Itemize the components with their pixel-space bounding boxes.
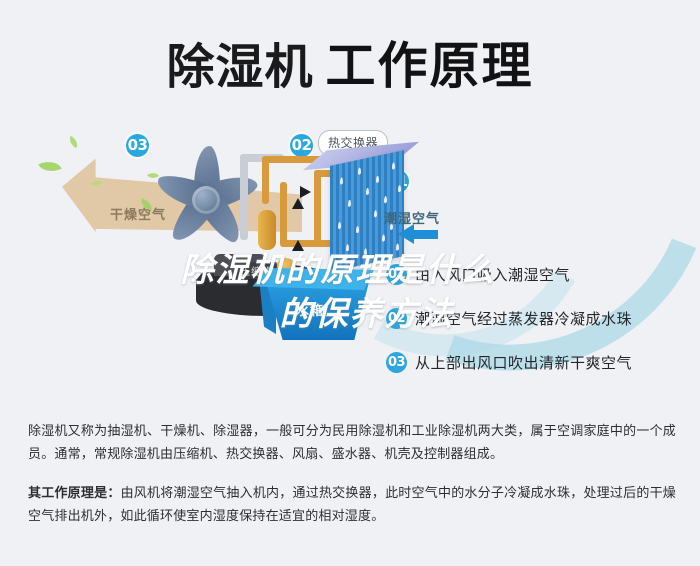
- step-number-badge: 01: [386, 264, 407, 285]
- step-list: 01 由入风口吸入潮湿空气 02 潮湿空气经过蒸发器冷凝成水珠 03 从上部出风…: [386, 252, 686, 384]
- leaf-icon: [67, 136, 81, 148]
- condensation-droplet: [340, 177, 343, 185]
- suction-pipe: [240, 154, 248, 240]
- fan-hub: [192, 186, 220, 214]
- step-number-badge: 02: [386, 308, 407, 329]
- copper-pipe: [280, 182, 287, 246]
- condensation-droplet: [364, 248, 367, 256]
- list-item: 01 由入风口吸入潮湿空气: [386, 252, 686, 296]
- water-tank-label: 水箱: [296, 300, 324, 319]
- flow-arrow-right-icon: [300, 186, 311, 198]
- condensation-droplet: [376, 175, 379, 183]
- page-title: 除湿机工作原理: [0, 26, 700, 98]
- condensation-droplet: [392, 162, 395, 170]
- title-part-two: 工作原理: [326, 37, 534, 95]
- condensation-droplet: [366, 188, 369, 196]
- paragraph-two-rest: 由风机将潮湿空气抽入机内，通过热交换器，此时空气中的水分子冷凝成水珠，处理过后的…: [28, 486, 676, 524]
- flow-arrow-up-icon: [292, 240, 304, 251]
- condensation-droplet: [348, 199, 351, 207]
- copper-pipe: [262, 156, 269, 204]
- condensation-droplet: [374, 210, 377, 218]
- condensation-droplet: [356, 226, 359, 234]
- list-item: 03 从上部出风口吹出清新干爽空气: [386, 340, 686, 384]
- infographic-page: 除湿机工作原理 干燥空气 03 02 01 热交换器: [0, 0, 700, 566]
- list-item: 02 潮湿空气经过蒸发器冷凝成水珠: [386, 296, 686, 340]
- condensation-droplet: [358, 167, 361, 175]
- paragraph-two-lead: 其工作原理是：: [28, 486, 121, 501]
- step-description: 从上部出风口吹出清新干爽空气: [415, 352, 632, 373]
- paragraph-two: 其工作原理是：由风机将潮湿空气抽入机内，通过热交换器，此时空气中的水分子冷凝成水…: [28, 482, 676, 528]
- step-description: 潮湿空气经过蒸发器冷凝成水珠: [415, 308, 632, 329]
- condensation-droplet: [346, 244, 349, 252]
- step-number-badge: 03: [386, 352, 407, 373]
- title-part-one: 除湿机: [166, 39, 313, 95]
- intake-arrow-tail: [412, 230, 438, 239]
- copper-pipe: [314, 170, 321, 246]
- condensation-droplet: [396, 243, 399, 251]
- receiver-cylinder: [258, 210, 276, 250]
- leaf-icon: [38, 157, 61, 177]
- condensation-droplet: [398, 185, 401, 193]
- condensation-droplet: [382, 234, 385, 242]
- diagram-badge-03: 03: [126, 134, 149, 157]
- humid-air-label: 潮湿空气: [384, 208, 440, 227]
- paragraph-one: 除湿机又称为抽湿机、干燥机、除湿器，一般可分为民用除湿机和工业除湿机两大类，属于…: [28, 420, 676, 466]
- flow-arrow-up-icon: [292, 198, 304, 209]
- step-description: 由入风口吸入潮湿空气: [415, 264, 570, 285]
- condensation-droplet: [384, 196, 387, 204]
- water-tank-top: [250, 268, 374, 290]
- body-copy: 除湿机又称为抽湿机、干燥机、除湿器，一般可分为民用除湿机和工业除湿机两大类，属于…: [28, 420, 676, 544]
- condensation-droplet: [338, 222, 341, 230]
